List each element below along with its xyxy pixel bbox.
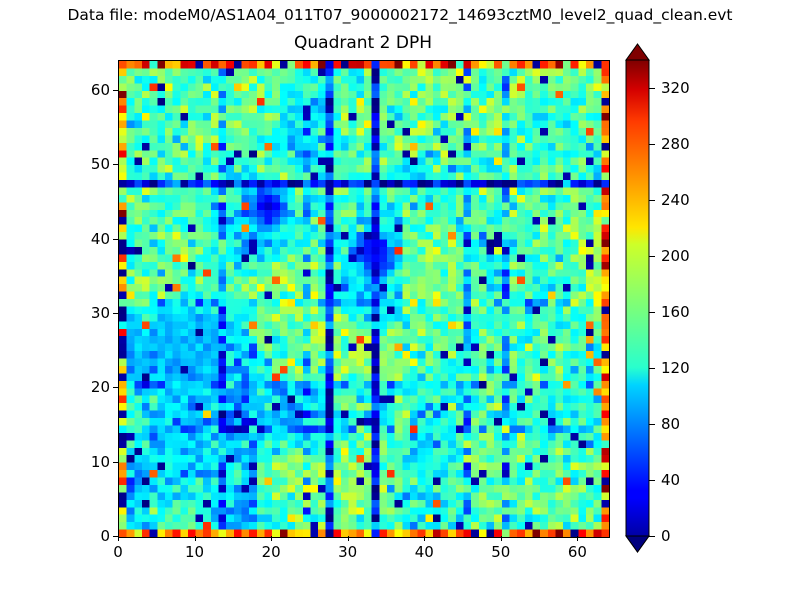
colorbar-tick-label: 200	[661, 247, 690, 265]
y-tick-mark	[113, 164, 118, 165]
colorbar-tick-mark	[649, 144, 655, 145]
x-tick-label: 40	[415, 543, 434, 561]
data-file-suptitle: Data file: modeM0/AS1A04_011T07_90000021…	[0, 6, 800, 24]
colorbar-tick-label: 280	[661, 135, 690, 153]
x-tick-label: 50	[491, 543, 510, 561]
x-tick-mark	[424, 536, 425, 541]
y-tick-label: 0	[100, 527, 110, 545]
colorbar-tick-mark	[649, 200, 655, 201]
x-tick-mark	[271, 536, 272, 541]
x-tick-mark	[577, 536, 578, 541]
figure-canvas: Data file: modeM0/AS1A04_011T07_90000021…	[0, 0, 800, 600]
colorbar-tick-mark	[649, 480, 655, 481]
x-tick-mark	[348, 536, 349, 541]
y-tick-label: 50	[91, 155, 110, 173]
x-axis-tick-labels: 0102030405060	[118, 543, 608, 565]
y-tick-mark	[113, 387, 118, 388]
colorbar-tick-label: 0	[661, 527, 671, 545]
x-tick-label: 10	[185, 543, 204, 561]
colorbar-tick-mark	[649, 536, 655, 537]
y-axis-tick-labels: 0102030405060	[68, 60, 110, 536]
x-tick-label: 30	[338, 543, 357, 561]
colorbar-tick-mark	[649, 312, 655, 313]
colorbar-tick-label: 80	[661, 415, 680, 433]
colorbar-tick-label: 160	[661, 303, 690, 321]
x-tick-mark	[118, 536, 119, 541]
y-tick-label: 20	[91, 378, 110, 396]
colorbar-tick-mark	[649, 368, 655, 369]
y-tick-label: 40	[91, 230, 110, 248]
colorbar-tick-mark	[649, 424, 655, 425]
x-tick-label: 0	[113, 543, 123, 561]
heatmap-image[interactable]	[119, 61, 609, 537]
y-tick-label: 60	[91, 81, 110, 99]
colorbar-tick-label: 40	[661, 471, 680, 489]
x-tick-label: 60	[568, 543, 587, 561]
colorbar-tick-label: 320	[661, 79, 690, 97]
colorbar-tick-mark	[649, 88, 655, 89]
colorbar-tick-labels: 04080120160200240280320	[649, 60, 709, 536]
heatmap-axes[interactable]	[118, 60, 610, 538]
x-tick-mark	[195, 536, 196, 541]
colorbar-tick-mark	[649, 256, 655, 257]
y-tick-label: 30	[91, 304, 110, 322]
colorbar-tick-label: 120	[661, 359, 690, 377]
colorbar-gradient	[626, 44, 649, 552]
y-tick-mark	[113, 239, 118, 240]
x-tick-mark	[501, 536, 502, 541]
y-tick-label: 10	[91, 453, 110, 471]
plot-title: Quadrant 2 DPH	[118, 33, 608, 53]
x-tick-label: 20	[262, 543, 281, 561]
y-tick-mark	[113, 462, 118, 463]
colorbar[interactable]: 04080120160200240280320	[626, 60, 649, 536]
y-tick-mark	[113, 313, 118, 314]
colorbar-tick-label: 240	[661, 191, 690, 209]
y-tick-mark	[113, 90, 118, 91]
